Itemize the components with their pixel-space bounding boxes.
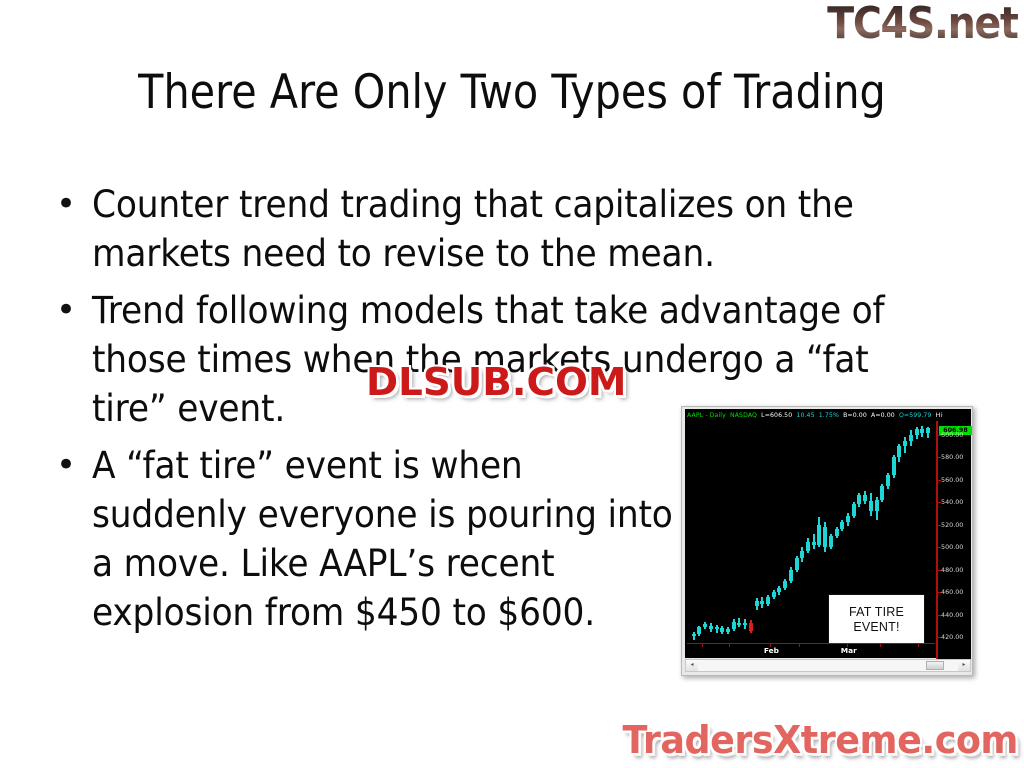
tradersxtreme-logo-text: TradersXtreme.com <box>623 718 1018 762</box>
candle-body <box>835 529 839 536</box>
candlestick <box>916 427 918 439</box>
slide-canvas: TC4S.net There Are Only Two Types of Tra… <box>0 0 1024 768</box>
candle-body <box>823 527 827 547</box>
candle-body <box>915 429 919 435</box>
price-tick-label: 460.00 <box>941 588 963 596</box>
price-tick-label: 500.00 <box>941 543 963 551</box>
scroll-left-arrow-icon[interactable]: ◂ <box>686 660 698 671</box>
time-tick-mark <box>880 644 881 647</box>
candlestick <box>836 527 838 538</box>
chart-horizontal-scrollbar[interactable]: ◂ ▸ <box>685 659 971 672</box>
candlestick <box>710 623 712 632</box>
tc4s-logo: TC4S.net <box>828 2 1018 46</box>
scroll-right-arrow-icon[interactable]: ▸ <box>958 660 970 671</box>
candle-body <box>692 634 696 636</box>
candle-body <box>897 446 901 457</box>
price-tick-label: 480.00 <box>941 566 963 574</box>
candle-body <box>737 623 741 625</box>
candle-body <box>863 495 867 501</box>
candlestick <box>807 538 809 553</box>
candle-body <box>852 504 856 515</box>
price-tick-label: 580.00 <box>941 453 963 461</box>
bullet-text: Counter trend trading that capitalizes o… <box>92 180 912 278</box>
chart-ask: A=0.00 <box>871 412 895 419</box>
chart-last: L=606.50 <box>761 412 792 419</box>
price-tick-label: 520.00 <box>941 521 963 529</box>
candlestick <box>693 632 695 640</box>
candle-body <box>772 592 776 597</box>
time-tick-label: Feb <box>764 646 779 656</box>
bullet-marker: • <box>56 180 92 229</box>
price-axis: 606.98 420.00440.00460.00480.00500.00520… <box>936 421 971 659</box>
list-item: • Counter trend trading that capitalizes… <box>56 180 974 278</box>
chart-open: O=599.79 <box>899 412 932 419</box>
candlestick <box>881 484 883 502</box>
chart-canvas: AAPL - Daily NASDAQ L=606.50 10.45 1.75%… <box>685 409 971 658</box>
candle-body <box>709 626 713 629</box>
candlestick <box>818 517 820 547</box>
candlestick <box>773 590 775 599</box>
candle-body <box>749 623 753 631</box>
candlestick <box>898 444 900 462</box>
candle-body <box>869 501 873 511</box>
price-tick-label: 440.00 <box>941 611 963 619</box>
candlestick <box>864 491 866 505</box>
candlestick <box>801 547 803 562</box>
candle-body <box>760 601 764 603</box>
candlestick <box>744 619 746 629</box>
time-tick-label: Mar <box>841 646 857 656</box>
candlestick <box>921 426 923 437</box>
candlestick <box>876 497 878 521</box>
candle-body <box>697 627 701 634</box>
candlestick <box>841 520 843 531</box>
price-tick-label: 420.00 <box>941 633 963 641</box>
candlestick <box>796 556 798 572</box>
chart-symbol: AAPL - Daily <box>687 412 726 419</box>
candle-body <box>817 525 821 545</box>
candlestick <box>738 618 740 627</box>
candlestick <box>784 579 786 590</box>
candlestick <box>756 598 758 610</box>
scrollbar-thumb[interactable] <box>926 661 944 670</box>
time-tick-mark <box>702 644 703 647</box>
candle-body <box>726 629 730 631</box>
candlestick <box>824 522 826 551</box>
candlestick-plot[interactable]: FAT TIRE EVENT! <box>687 421 935 643</box>
candle-body <box>875 500 879 511</box>
candlestick <box>727 627 729 634</box>
chart-change: 10.45 <box>796 412 814 419</box>
candlestick <box>704 622 706 630</box>
candlestick <box>893 455 895 479</box>
fat-tire-event-callout: FAT TIRE EVENT! <box>828 594 925 643</box>
candlestick <box>853 502 855 518</box>
candlestick <box>698 626 700 636</box>
candle-body <box>857 495 861 504</box>
candlestick <box>721 626 723 634</box>
candle-body <box>926 428 930 434</box>
callout-line-2: EVENT! <box>853 620 899 634</box>
chart-change-pct: 1.75% <box>819 412 839 419</box>
candlestick <box>767 595 769 606</box>
candlestick <box>830 534 832 550</box>
bullet-text: A “fat tire” event is when suddenly ever… <box>92 441 687 637</box>
dlsub-watermark: DLSUB.COM <box>366 361 626 403</box>
candlestick <box>778 586 780 595</box>
candle-body <box>795 558 799 569</box>
candlestick <box>858 493 860 507</box>
chart-high: Hi=607.15 <box>936 412 943 419</box>
candlestick <box>910 430 912 446</box>
candle-body <box>800 551 804 559</box>
candlestick <box>887 473 889 489</box>
candlestick <box>716 625 718 633</box>
candle-body <box>806 542 810 551</box>
candle-body <box>783 581 787 588</box>
candle-body <box>789 570 793 581</box>
candle-body <box>886 475 890 486</box>
candle-body <box>892 457 896 475</box>
time-tick-mark <box>918 644 919 647</box>
time-tick-mark <box>799 644 800 647</box>
candlestick <box>870 493 872 516</box>
candlestick <box>733 619 735 630</box>
candle-body <box>903 441 907 446</box>
candle-body <box>755 601 759 606</box>
candle-body <box>840 522 844 529</box>
bullet-marker: • <box>56 441 92 490</box>
candle-body <box>812 542 816 545</box>
candlestick <box>813 534 815 550</box>
candle-body <box>846 516 850 523</box>
candlestick <box>927 427 929 438</box>
price-tick-label: 600.00 <box>941 431 963 439</box>
chart-exchange: NASDAQ <box>730 412 757 419</box>
candlestick <box>761 597 763 608</box>
stock-chart-window[interactable]: AAPL - Daily NASDAQ L=606.50 10.45 1.75%… <box>681 406 973 676</box>
candle-body <box>766 597 770 604</box>
candle-body <box>777 588 781 593</box>
price-tick-label: 540.00 <box>941 498 963 506</box>
dlsub-watermark-text: DLSUB.COM <box>366 361 626 403</box>
bullet-marker: • <box>56 286 92 335</box>
scrollbar-track[interactable] <box>698 660 958 671</box>
candle-body <box>720 628 724 631</box>
candle-body <box>732 622 736 630</box>
candle-body <box>703 624 707 627</box>
chart-quote-header: AAPL - Daily NASDAQ L=606.50 10.45 1.75%… <box>687 410 943 421</box>
candle-body <box>829 536 833 547</box>
time-tick-mark <box>729 644 730 647</box>
candle-body <box>715 627 719 629</box>
time-tick-mark <box>847 644 848 647</box>
candle-body <box>880 486 884 500</box>
callout-line-1: FAT TIRE <box>849 605 904 619</box>
candlestick <box>904 437 906 453</box>
candlestick <box>790 567 792 583</box>
chart-bid: B=0.00 <box>843 412 867 419</box>
candle-body <box>920 429 924 434</box>
candlestick <box>847 513 849 525</box>
time-tick-mark <box>770 644 771 647</box>
tradersxtreme-logo: TradersXtreme.com <box>623 718 1018 762</box>
candlestick <box>750 620 752 632</box>
candle-body <box>909 435 913 442</box>
price-tick-label: 560.00 <box>941 476 963 484</box>
candle-body <box>743 623 747 625</box>
time-axis: FebMar <box>687 643 935 658</box>
page-title: There Are Only Two Types of Trading <box>61 66 962 120</box>
